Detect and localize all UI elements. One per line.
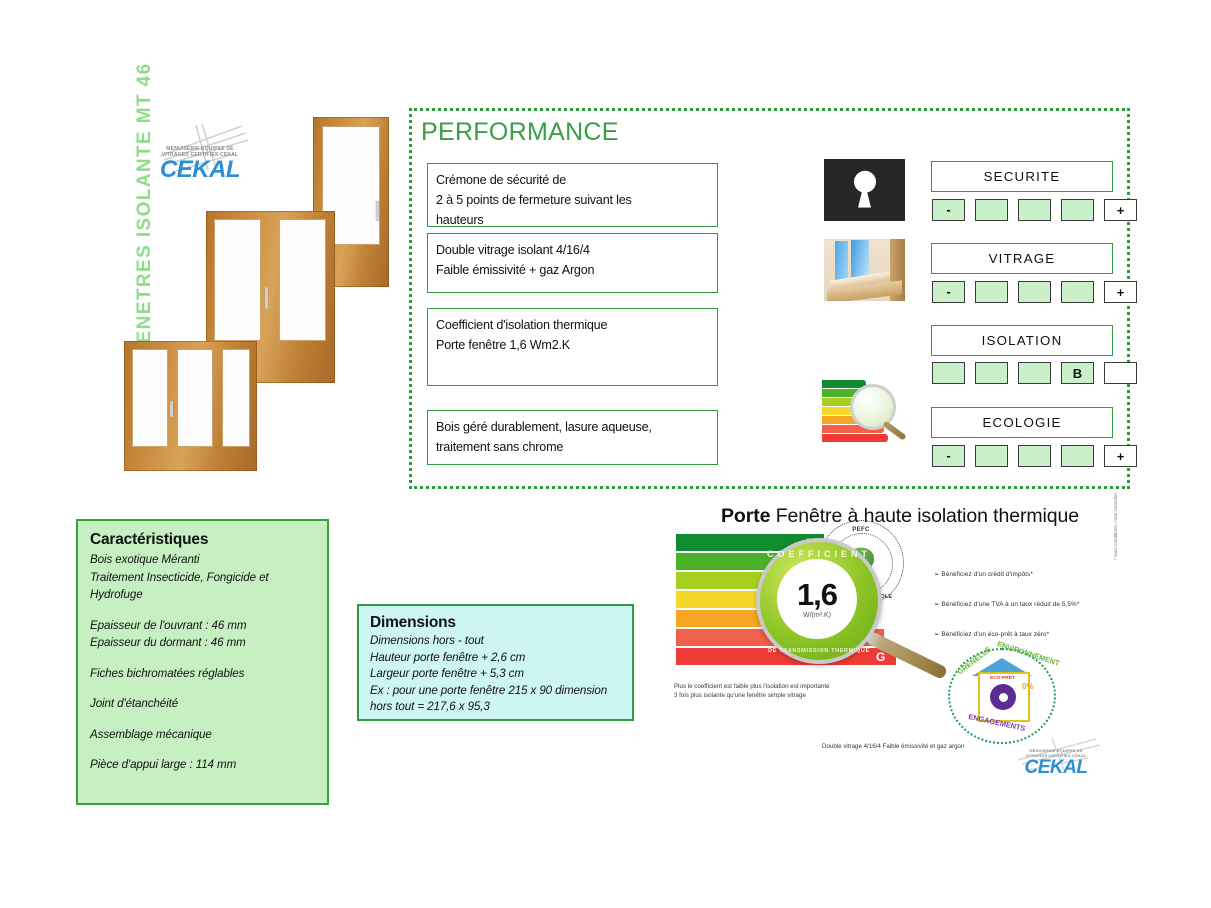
scale-cell[interactable] (932, 362, 965, 384)
scale-cell[interactable] (1061, 199, 1094, 221)
scale-cell-grade-b[interactable]: B (1061, 362, 1094, 384)
door-pane (214, 219, 261, 341)
scale-cell-plus[interactable]: + (1104, 281, 1137, 303)
coefficient-inner: 1,6 W/(m².K) (777, 559, 857, 639)
feature-box-vitrage: Double vitrage isolant 4/16/4 Faible émi… (427, 233, 718, 293)
caracteristiques-line: Traitement Insecticide, Fongicide et (90, 569, 315, 587)
promo-title: Porte Fenêtre à haute isolation thermiqu… (660, 505, 1140, 528)
caracteristiques-line: Fiches bichromatées réglables (90, 665, 315, 683)
cekal-wordmark: CEKAL (150, 158, 250, 182)
scale-cell-minus[interactable]: - (932, 199, 965, 221)
feature-box-bois: Bois géré durablement, lasure aqueuse, t… (427, 410, 718, 465)
door-pane (222, 349, 250, 447)
scale-cell[interactable] (1061, 281, 1094, 303)
rating-scale-vitrage: - + (932, 281, 1137, 303)
promo-side-note: * sous conditions, nous consulter (1113, 450, 1118, 560)
feature-line: traitement sans chrome (436, 437, 709, 457)
cekal-logo: MENUISERIE EQUIPEE DE VITRAGES CERTIFIES… (150, 124, 250, 186)
rating-scale-isolation: B (932, 362, 1137, 384)
scale-cell[interactable] (1018, 281, 1051, 303)
scale-cell[interactable] (1018, 199, 1051, 221)
scale-cell[interactable] (1018, 445, 1051, 467)
door-pane (132, 349, 168, 447)
caracteristiques-title: Caractéristiques (90, 531, 315, 549)
door-pane (177, 349, 213, 447)
feature-box-cremone: Crémone de sécurité de 2 à 5 points de f… (427, 163, 718, 227)
rating-label-securite: SECURITE (931, 161, 1113, 192)
coefficient-value: 1,6 (797, 580, 837, 610)
door-pane (279, 219, 326, 341)
promo-footnote-line: Plus le coefficient est faible plus l'is… (674, 682, 830, 691)
feature-line: hauteurs (436, 210, 709, 230)
promo-title-bold: Porte (721, 505, 770, 527)
rating-label-isolation: ISOLATION (931, 325, 1113, 356)
dimensions-line: Largeur porte fenêtre + 5,3 cm (370, 666, 621, 683)
door-handle (265, 287, 268, 309)
coefficient-ring-top: COEFFICIENT (760, 549, 878, 559)
dimensions-line: Dimensions hors - tout (370, 633, 621, 650)
glazing-photo-icon (824, 239, 905, 301)
promo-title-rest: Fenêtre à haute isolation thermique (770, 505, 1079, 527)
feature-line: Double vitrage isolant 4/16/4 (436, 240, 709, 260)
dimensions-line: Hauteur porte fenêtre + 2,6 cm (370, 650, 621, 667)
caracteristiques-line: Bois exotique Méranti (90, 551, 315, 569)
cekal-line1: MENUISERIE EQUIPEE DE (1010, 738, 1102, 753)
cekal-wordmark: CEKAL (1010, 758, 1102, 778)
scale-cell-minus[interactable]: - (932, 445, 965, 467)
scale-cell[interactable] (975, 362, 1008, 384)
feature-line: Faible émissivité + gaz Argon (436, 260, 709, 280)
rating-label-vitrage: VITRAGE (931, 243, 1113, 274)
dimensions-line: Ex : pour une porte fenêtre 215 x 90 dim… (370, 683, 621, 700)
promo-bullet: ➢ Bénéficiez d'une TVA à un taux réduit … (934, 600, 1079, 608)
coefficient-badge: COEFFICIENT 1,6 W/(m².K) DE TRANSMISSION… (756, 538, 882, 664)
scale-cell-minus[interactable]: - (932, 281, 965, 303)
grenelle-text-eco-pret: ECO-PRET (990, 676, 1015, 681)
door-triple-bottom (124, 341, 257, 471)
keyhole-shape (854, 171, 876, 208)
door-handle (170, 401, 173, 417)
scale-cell[interactable] (975, 199, 1008, 221)
grenelle-text-zero: 0% (1022, 682, 1034, 691)
door-handle (376, 201, 379, 221)
scale-cell-empty[interactable] (1104, 362, 1137, 384)
scale-cell[interactable] (975, 445, 1008, 467)
energy-magnifier-icon (822, 378, 910, 444)
feature-box-coefficient: Coefficient d'isolation thermique Porte … (427, 308, 718, 386)
caracteristiques-line: Pièce d'appui large : 114 mm (90, 756, 315, 774)
dimensions-box: Dimensions Dimensions hors - tout Hauteu… (357, 604, 634, 721)
rating-scale-ecologie: - + (932, 445, 1137, 467)
rating-label-ecologie: ECOLOGIE (931, 407, 1113, 438)
caracteristiques-line: Assemblage mécanique (90, 726, 315, 744)
caracteristiques-line: Hydrofuge (90, 586, 315, 604)
dimensions-line: hors tout = 217,6 x 95,3 (370, 699, 621, 716)
cekal-logo-bottom: MENUISERIE EQUIPEE DE VITRAGES CERTIFIES… (1010, 738, 1102, 778)
feature-line: Porte fenêtre 1,6 Wm2.K (436, 335, 709, 355)
scale-cell-plus[interactable]: + (1104, 199, 1137, 221)
scale-cell[interactable] (975, 281, 1008, 303)
scale-cell[interactable] (1018, 362, 1051, 384)
keyhole-icon (824, 159, 905, 221)
performance-title: PERFORMANCE (421, 118, 619, 147)
caracteristiques-line: Epaisseur du dormant : 46 mm (90, 634, 315, 652)
dimensions-title: Dimensions (370, 614, 621, 632)
feature-line: Coefficient d'isolation thermique (436, 315, 709, 335)
promo-footnote: Plus le coefficient est faible plus l'is… (674, 682, 830, 700)
coefficient-ring-bottom: DE TRANSMISSION THERMIQUE (760, 648, 878, 654)
feature-line: 2 à 5 points de fermeture suivant les (436, 190, 709, 210)
promo-footnote-bottom: Double vitrage 4/16/4 Faible émissivité … (822, 743, 964, 750)
caracteristiques-line: Joint d'étanchéité (90, 695, 315, 713)
cekal-line1: MENUISERIE EQUIPEE DE (150, 124, 250, 152)
scale-cell-plus[interactable]: + (1104, 445, 1137, 467)
promo-bullet: ➢ Bénéficiez d'un éco-prêt à taux zéro* (934, 630, 1049, 638)
feature-line: Crémone de sécurité de (436, 170, 709, 190)
promo-footnote-line: 3 fois plus isolante qu'une fenêtre simp… (674, 691, 830, 700)
grenelle-environnement-logo: GRENELLE ENVIRONNEMENT ENGAGEMENTS ECO-P… (948, 648, 1056, 744)
caracteristiques-box: Caractéristiques Bois exotique Méranti T… (76, 519, 329, 805)
promo-energy-label: A F G COEFFICIENT 1,6 W/(m².K) DE TRANSM… (676, 534, 926, 684)
scale-cell[interactable] (1061, 445, 1094, 467)
zero-percent-icon (990, 684, 1016, 710)
caracteristiques-line: Epaisseur de l'ouvrant : 46 mm (90, 617, 315, 635)
coefficient-unit: W/(m².K) (803, 612, 831, 619)
promo-bullet: ➢ Bénéficiez d'un crédit d'impôts* (934, 570, 1033, 578)
feature-line: Bois géré durablement, lasure aqueuse, (436, 417, 709, 437)
rating-scale-securite: - + (932, 199, 1137, 221)
